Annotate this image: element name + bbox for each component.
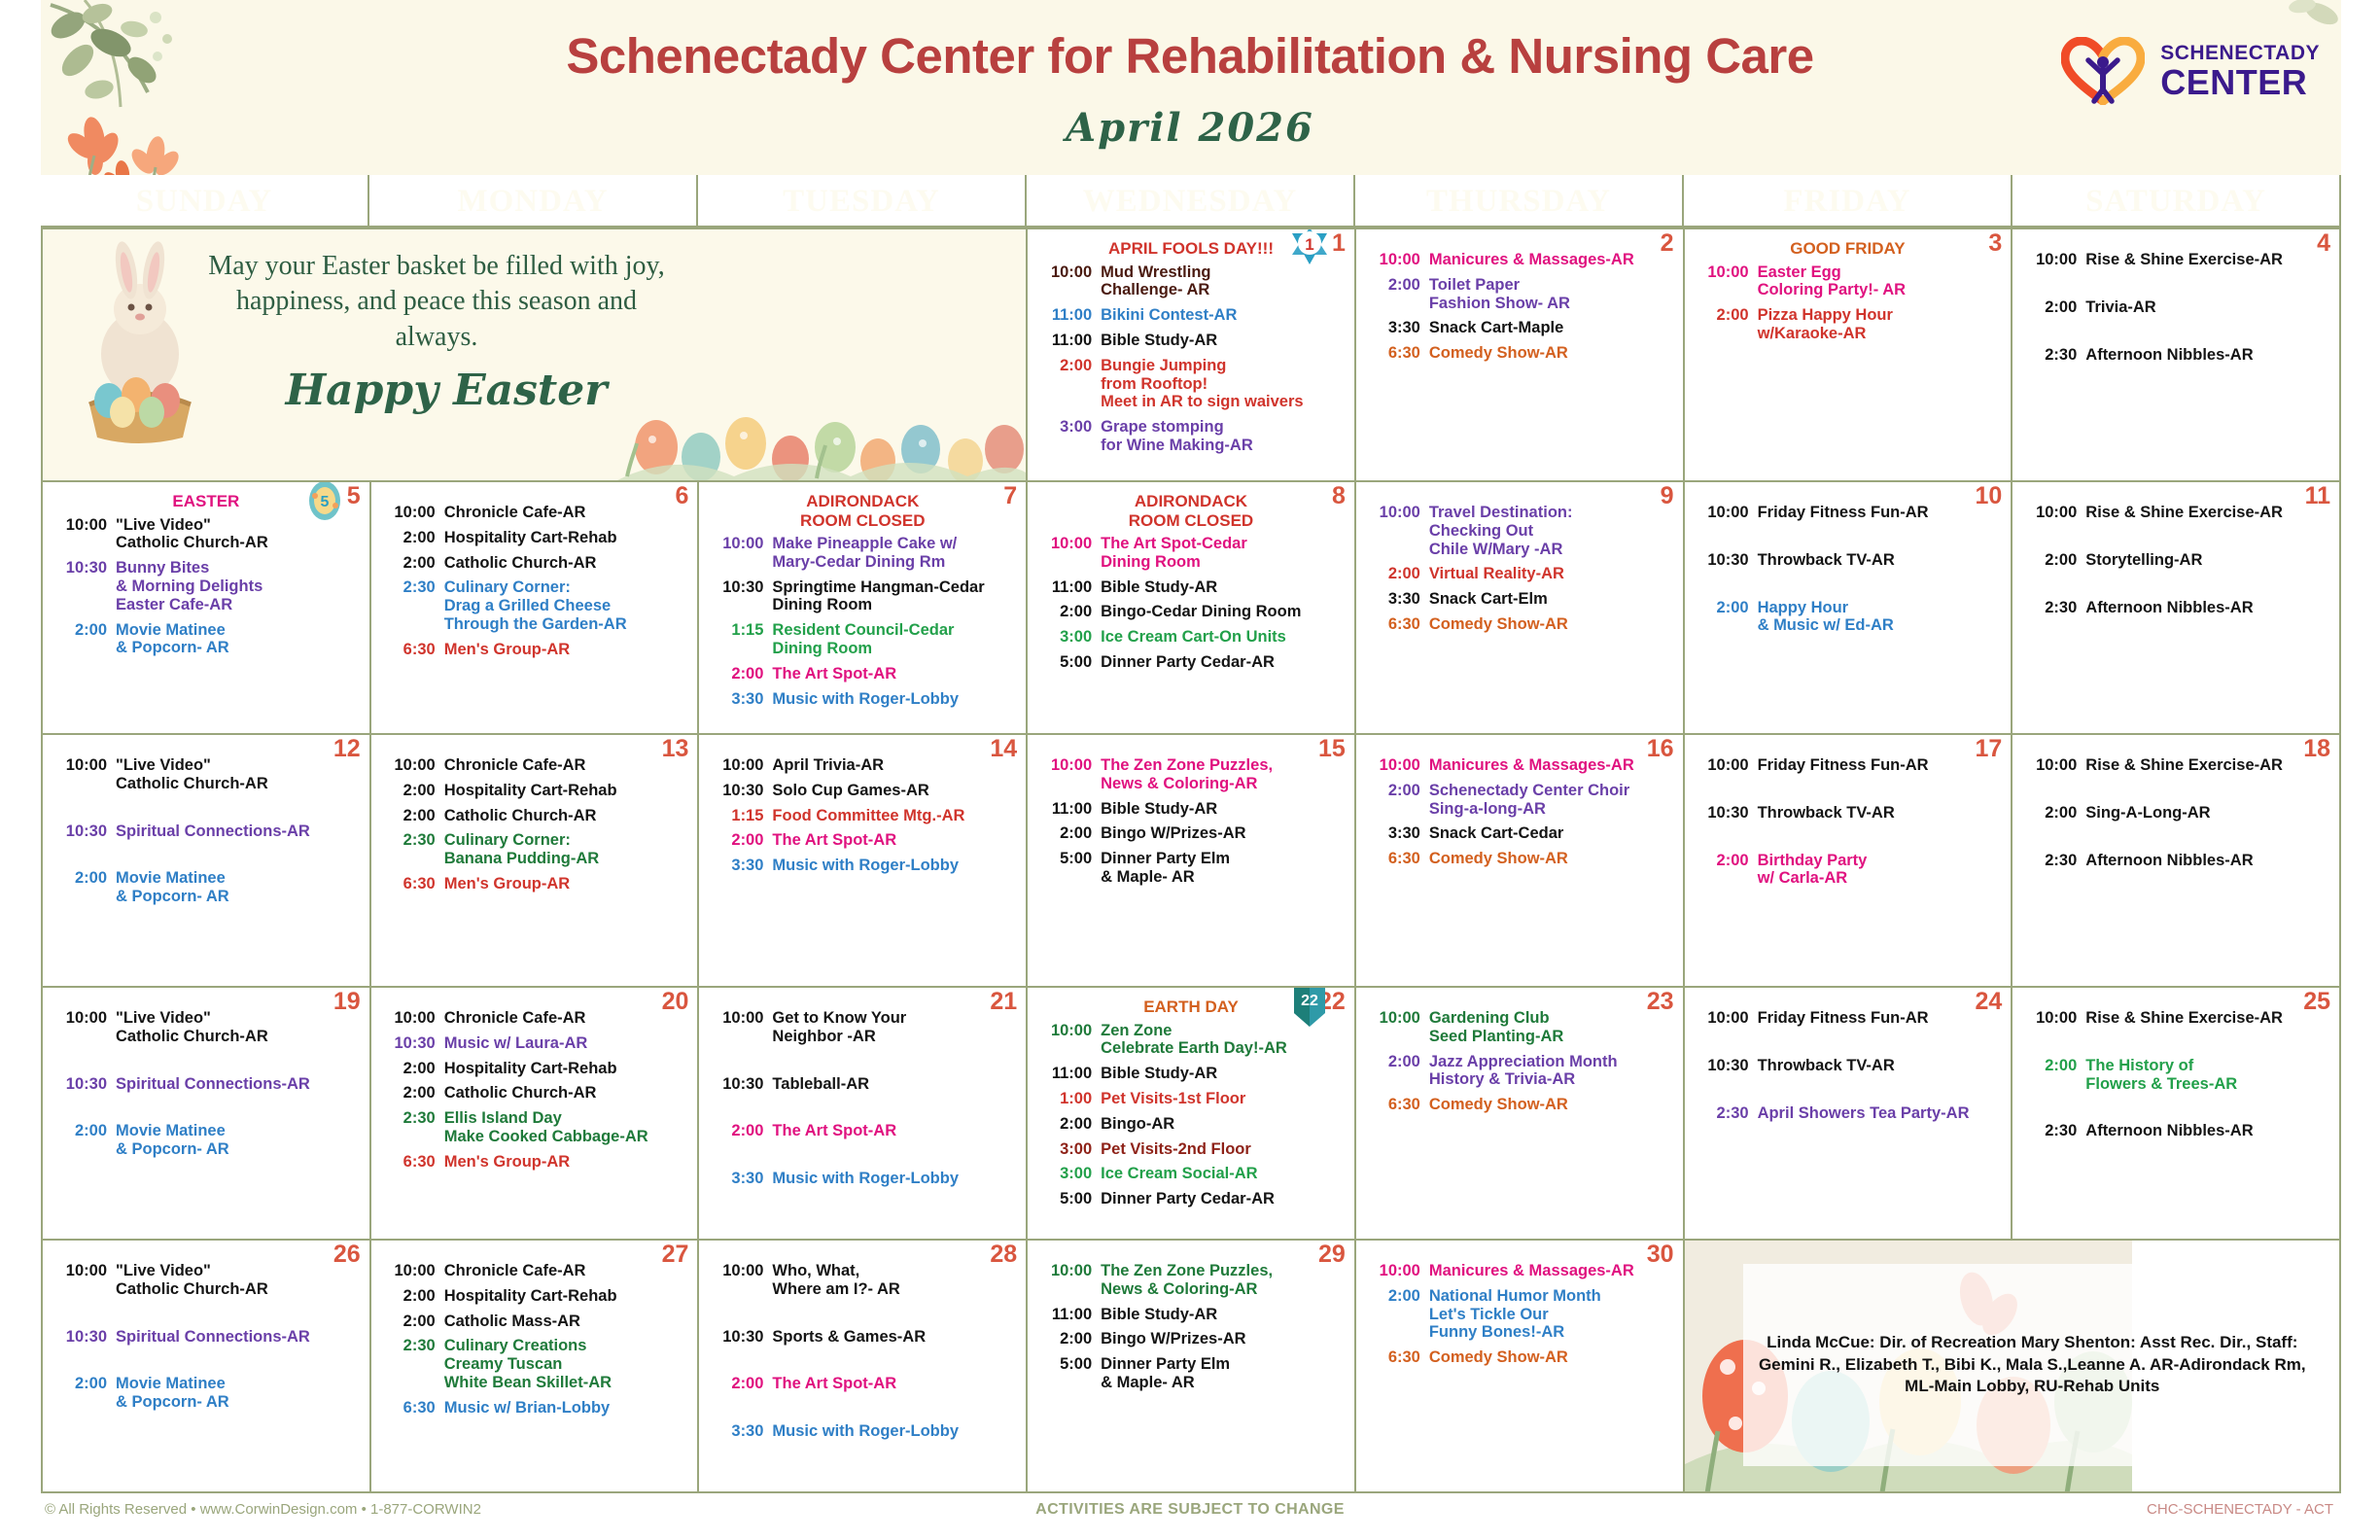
event-item[interactable]: 2:00Bingo W/Prizes-AR <box>1035 1330 1347 1348</box>
event-time: 2:00 <box>1364 1287 1429 1306</box>
logo-line-1: SCHENECTADY <box>2160 43 2320 63</box>
day-cell-30[interactable]: 3010:00Manicures & Massages-AR2:00Nation… <box>1356 1241 1685 1493</box>
day-number: 9 <box>1661 484 1674 508</box>
day-cell-3[interactable]: 3GOOD FRIDAY10:00Easter Egg Coloring Par… <box>1685 229 2013 482</box>
easter-eggs-icon <box>617 334 1026 480</box>
event-time: 2:00 <box>707 665 772 683</box>
event-item[interactable]: 11:00Bible Study-AR <box>1035 800 1347 819</box>
event-item[interactable]: 10:00Chronicle Cafe-AR <box>379 1009 690 1028</box>
event-time: 2:00 <box>2020 298 2085 317</box>
event-item[interactable]: 2:00The Art Spot-AR <box>707 1375 1018 1393</box>
event-description: Catholic Church-AR <box>444 1084 690 1102</box>
event-time: 10:00 <box>1364 504 1429 522</box>
event-item[interactable]: 3:30Snack Cart-Cedar <box>1364 824 1675 843</box>
event-item[interactable]: 11:00Bible Study-AR <box>1035 332 1347 350</box>
event-time: 6:30 <box>1364 344 1429 363</box>
event-item[interactable]: 2:00Movie Matinee & Popcorn- AR <box>51 1122 362 1159</box>
day-cell-26[interactable]: 2610:00"Live Video" Catholic Church-AR10… <box>43 1241 371 1493</box>
event-time: 2:00 <box>379 807 444 825</box>
day-cell-10[interactable]: 1010:00Friday Fitness Fun-AR10:30Throwba… <box>1685 482 2013 735</box>
event-item[interactable]: 6:30Comedy Show-AR <box>1364 1348 1675 1367</box>
event-description: Comedy Show-AR <box>1429 1096 1675 1114</box>
event-item[interactable]: 2:00Sing-A-Long-AR <box>2020 804 2331 822</box>
day-cell-19[interactable]: 1910:00"Live Video" Catholic Church-AR10… <box>43 988 371 1241</box>
event-description: Afternoon Nibbles-AR <box>2085 852 2331 870</box>
event-item[interactable]: 10:00"Live Video" Catholic Church-AR <box>51 756 362 793</box>
event-time: 6:30 <box>1364 1348 1429 1367</box>
event-time: 10:30 <box>1693 551 1758 570</box>
event-description: Gardening Club Seed Planting-AR <box>1429 1009 1675 1046</box>
event-description: Easter Egg Coloring Party!- AR <box>1758 263 2004 300</box>
event-description: April Trivia-AR <box>772 756 1018 775</box>
day-cell-16[interactable]: 1610:00Manicures & Massages-AR2:00Schene… <box>1356 735 1685 988</box>
event-time: 10:00 <box>2020 251 2085 269</box>
day-number: 17 <box>1975 737 2002 761</box>
event-item[interactable]: 2:00The Art Spot-AR <box>707 831 1018 850</box>
event-description: Bible Study-AR <box>1101 332 1347 350</box>
event-item[interactable]: 3:30Snack Cart-Maple <box>1364 319 1675 337</box>
event-description: Movie Matinee & Popcorn- AR <box>116 1375 362 1412</box>
day-cell-2[interactable]: 210:00Manicures & Massages-AR2:00Toilet … <box>1356 229 1685 482</box>
event-time: 1:15 <box>707 807 772 825</box>
event-description: Men's Group-AR <box>444 641 690 659</box>
event-item[interactable]: 10:30Throwback TV-AR <box>1693 551 2004 570</box>
day-cell-7[interactable]: 7ADIRONDACKROOM CLOSED10:00Make Pineappl… <box>699 482 1028 735</box>
event-description: Happy Hour & Music w/ Ed-AR <box>1758 599 2004 636</box>
event-item[interactable]: 10:00Friday Fitness Fun-AR <box>1693 756 2004 775</box>
event-description: Get to Know Your Neighbor -AR <box>772 1009 1018 1046</box>
event-time: 2:00 <box>1035 603 1101 621</box>
event-item[interactable]: 10:00"Live Video" Catholic Church-AR <box>51 1009 362 1046</box>
event-item[interactable]: 2:00Trivia-AR <box>2020 298 2331 317</box>
day-number: 10 <box>1975 484 2002 508</box>
day-cell-22[interactable]: 2222EARTH DAY10:00Zen Zone Celebrate Ear… <box>1028 988 1356 1241</box>
easter-bunny-icon <box>51 237 226 451</box>
day-cell-23[interactable]: 2310:00Gardening Club Seed Planting-AR2:… <box>1356 988 1685 1241</box>
event-list: 10:00Mud Wrestling Challenge- AR11:00Bik… <box>1035 263 1347 455</box>
event-item[interactable]: 2:00Happy Hour & Music w/ Ed-AR <box>1693 599 2004 636</box>
event-description: Movie Matinee & Popcorn- AR <box>116 621 362 658</box>
event-description: Snack Cart-Cedar <box>1429 824 1675 843</box>
event-description: Friday Fitness Fun-AR <box>1758 756 2004 775</box>
day-cell-24[interactable]: 2410:00Friday Fitness Fun-AR10:30Throwba… <box>1685 988 2013 1241</box>
event-description: Hospitality Cart-Rehab <box>444 1287 690 1306</box>
event-list: 10:00Manicures & Massages-AR2:00Schenect… <box>1364 756 1675 868</box>
event-item[interactable]: 11:00Bible Study-AR <box>1035 1306 1347 1324</box>
event-item[interactable]: 6:30Comedy Show-AR <box>1364 615 1675 634</box>
event-item[interactable]: 6:30Comedy Show-AR <box>1364 850 1675 868</box>
footer-code: CHC-SCHENECTADY - ACT <box>2147 1501 2333 1518</box>
day-number: 24 <box>1975 990 2002 1014</box>
event-description: April Showers Tea Party-AR <box>1758 1104 2004 1123</box>
event-item[interactable]: 2:00The Art Spot-AR <box>707 1122 1018 1140</box>
event-item[interactable]: 3:00Ice Cream Social-AR <box>1035 1165 1347 1183</box>
event-item[interactable]: 6:30Men's Group-AR <box>379 1153 690 1172</box>
logo-line-2: CENTER <box>2160 65 2320 100</box>
event-item[interactable]: 2:00Birthday Party w/ Carla-AR <box>1693 852 2004 889</box>
event-item[interactable]: 10:00"Live Video" Catholic Church-AR <box>51 1262 362 1299</box>
event-list: 10:00"Live Video" Catholic Church-AR10:3… <box>51 1262 362 1412</box>
event-item[interactable]: 2:00Jazz Appreciation Month History & Tr… <box>1364 1053 1675 1090</box>
day-cell-27[interactable]: 2710:00Chronicle Cafe-AR2:00Hospitality … <box>371 1241 700 1493</box>
event-description: "Live Video" Catholic Church-AR <box>116 1262 362 1299</box>
event-description: Throwback TV-AR <box>1758 804 2004 822</box>
event-description: Solo Cup Games-AR <box>772 782 1018 800</box>
event-description: Chronicle Cafe-AR <box>444 504 690 522</box>
event-item[interactable]: 10:00Rise & Shine Exercise-AR <box>2020 251 2331 269</box>
day-cell-6[interactable]: 610:00Chronicle Cafe-AR2:00Hospitality C… <box>371 482 700 735</box>
event-item[interactable]: 10:00Chronicle Cafe-AR <box>379 756 690 775</box>
event-list: 10:00Chronicle Cafe-AR2:00Hospitality Ca… <box>379 1262 690 1417</box>
event-description: Hospitality Cart-Rehab <box>444 529 690 547</box>
event-list: 10:00Zen Zone Celebrate Earth Day!-AR11:… <box>1035 1022 1347 1208</box>
event-list: 10:00Manicures & Massages-AR2:00National… <box>1364 1262 1675 1367</box>
event-time: 10:30 <box>707 782 772 800</box>
event-item[interactable]: 10:00Gardening Club Seed Planting-AR <box>1364 1009 1675 1046</box>
day-number: 12 <box>333 737 361 761</box>
event-description: Friday Fitness Fun-AR <box>1758 504 2004 522</box>
event-item[interactable]: 10:30Bunny Bites & Morning Delights East… <box>51 559 362 613</box>
event-time: 10:00 <box>379 1009 444 1028</box>
event-time: 2:00 <box>379 1084 444 1102</box>
day-number: 25 <box>2303 990 2330 1014</box>
page-footer: © All Rights Reserved • www.CorwinDesign… <box>0 1493 2380 1540</box>
day-number: 1 <box>1332 231 1346 256</box>
day-cell-5[interactable]: 55EASTER10:00"Live Video" Catholic Churc… <box>43 482 371 735</box>
event-time: 2:00 <box>1364 565 1429 583</box>
event-item[interactable]: 3:30Music with Roger-Lobby <box>707 1422 1018 1441</box>
event-item[interactable]: 2:00Bingo-Cedar Dining Room <box>1035 603 1347 621</box>
event-list: 10:00Rise & Shine Exercise-AR2:00Trivia-… <box>2020 251 2331 364</box>
event-item[interactable]: 10:30Throwback TV-AR <box>1693 804 2004 822</box>
event-item[interactable]: 2:00Hospitality Cart-Rehab <box>379 529 690 547</box>
event-description: Sports & Games-AR <box>772 1328 1018 1347</box>
event-description: The Art Spot-AR <box>772 1122 1018 1140</box>
event-item[interactable]: 10:00Who, What, Where am I?- AR <box>707 1262 1018 1299</box>
event-description: Throwback TV-AR <box>1758 551 2004 570</box>
event-item[interactable]: 2:30Afternoon Nibbles-AR <box>2020 346 2331 365</box>
event-list: 10:00Rise & Shine Exercise-AR2:00Storyte… <box>2020 504 2331 616</box>
event-time: 5:00 <box>1035 1355 1101 1374</box>
day-cell-28[interactable]: 2810:00Who, What, Where am I?- AR10:30Sp… <box>699 1241 1028 1493</box>
event-item[interactable]: 2:00Virtual Reality-AR <box>1364 565 1675 583</box>
event-time: 10:00 <box>51 516 116 535</box>
event-time: 3:30 <box>1364 319 1429 337</box>
day-number: 28 <box>990 1242 1017 1267</box>
event-item[interactable]: 3:30Music with Roger-Lobby <box>707 1170 1018 1188</box>
weekday-header-tuesday: TUESDAY <box>698 175 1027 227</box>
event-description: Bingo W/Prizes-AR <box>1101 1330 1347 1348</box>
event-description: Dinner Party Cedar-AR <box>1101 653 1347 672</box>
event-item[interactable]: 10:30Throwback TV-AR <box>1693 1057 2004 1075</box>
event-item[interactable]: 5:00Dinner Party Elm & Maple- AR <box>1035 1355 1347 1392</box>
event-time: 10:00 <box>707 535 772 553</box>
event-item[interactable]: 2:30Afternoon Nibbles-AR <box>2020 1122 2331 1140</box>
event-item[interactable]: 10:00Make Pineapple Cake w/ Mary-Cedar D… <box>707 535 1018 572</box>
event-time: 10:00 <box>1364 1009 1429 1028</box>
event-item[interactable]: 10:00Manicures & Massages-AR <box>1364 756 1675 775</box>
event-item[interactable]: 1:15Food Committee Mtg.-AR <box>707 807 1018 825</box>
day-cell-21[interactable]: 2110:00Get to Know Your Neighbor -AR10:3… <box>699 988 1028 1241</box>
event-time: 2:00 <box>379 1060 444 1078</box>
day-cell-20[interactable]: 2010:00Chronicle Cafe-AR10:30Music w/ La… <box>371 988 700 1241</box>
event-item[interactable]: 10:00The Art Spot-Cedar Dining Room <box>1035 535 1347 572</box>
event-description: Pet Visits-2nd Floor <box>1101 1140 1347 1159</box>
event-time: 2:00 <box>379 1312 444 1331</box>
event-item[interactable]: 1:00Pet Visits-1st Floor <box>1035 1090 1347 1108</box>
event-item[interactable]: 2:00Toilet Paper Fashion Show- AR <box>1364 276 1675 313</box>
event-item[interactable]: 5:00Dinner Party Elm & Maple- AR <box>1035 850 1347 887</box>
event-item[interactable]: 2:30April Showers Tea Party-AR <box>1693 1104 2004 1123</box>
event-item[interactable]: 2:00Movie Matinee & Popcorn- AR <box>51 869 362 906</box>
weekday-header-thursday: THURSDAY <box>1355 175 1684 227</box>
event-time: 6:30 <box>1364 1096 1429 1114</box>
event-item[interactable]: 10:00April Trivia-AR <box>707 756 1018 775</box>
event-list: 10:00Friday Fitness Fun-AR10:30Throwback… <box>1693 504 2004 635</box>
event-description: Manicures & Massages-AR <box>1429 251 1675 269</box>
day-number: 5 <box>347 484 361 508</box>
event-description: Ice Cream Cart-On Units <box>1101 628 1347 647</box>
event-description: Sing-A-Long-AR <box>2085 804 2331 822</box>
day-cell-1[interactable]: 11APRIL FOOLS DAY!!!10:00Mud Wrestling C… <box>1028 229 1356 482</box>
easter-greeting-script: Happy Easter <box>237 366 655 415</box>
event-item[interactable]: 10:30Springtime Hangman-Cedar Dining Roo… <box>707 578 1018 615</box>
logo-wordmark: SCHENECTADY CENTER <box>2160 43 2320 100</box>
earth-ribbon-badge-icon: 22 <box>1288 988 1331 1029</box>
day-cell-11[interactable]: 1110:00Rise & Shine Exercise-AR2:00Story… <box>2012 482 2341 735</box>
event-item[interactable]: 10:30Tableball-AR <box>707 1075 1018 1094</box>
event-item[interactable]: 3:00Pet Visits-2nd Floor <box>1035 1140 1347 1159</box>
event-time: 6:30 <box>1364 850 1429 868</box>
event-item[interactable]: 2:30Afternoon Nibbles-AR <box>2020 852 2331 870</box>
event-time: 10:00 <box>1364 756 1429 775</box>
event-item[interactable]: 10:00Travel Destination: Checking Out Ch… <box>1364 504 1675 558</box>
event-item[interactable]: 2:00Movie Matinee & Popcorn- AR <box>51 1375 362 1412</box>
event-description: Afternoon Nibbles-AR <box>2085 599 2331 617</box>
staff-info-text: Linda McCue: Dir. of Recreation Mary She… <box>1743 1332 2322 1397</box>
event-item[interactable]: 5:00Dinner Party Cedar-AR <box>1035 1190 1347 1208</box>
event-item[interactable]: 2:00Storytelling-AR <box>2020 551 2331 570</box>
event-item[interactable]: 10:00Friday Fitness Fun-AR <box>1693 1009 2004 1028</box>
day-cell-14[interactable]: 1410:00April Trivia-AR10:30Solo Cup Game… <box>699 735 1028 988</box>
weekday-header-friday: FRIDAY <box>1684 175 2012 227</box>
day-number: 27 <box>662 1242 689 1267</box>
event-time: 10:30 <box>707 1075 772 1094</box>
event-item[interactable]: 2:30Culinary Corner: Banana Pudding-AR <box>379 831 690 868</box>
svg-text:1: 1 <box>1305 235 1313 254</box>
event-time: 10:00 <box>379 1262 444 1280</box>
day-cell-29[interactable]: 2910:00The Zen Zone Puzzles, News & Colo… <box>1028 1241 1356 1493</box>
event-time: 10:30 <box>51 822 116 841</box>
day-cell-13[interactable]: 1310:00Chronicle Cafe-AR2:00Hospitality … <box>371 735 700 988</box>
event-item[interactable]: 2:00Pizza Happy Hour w/Karaoke-AR <box>1693 306 2004 343</box>
event-item[interactable]: 6:30Comedy Show-AR <box>1364 1096 1675 1114</box>
event-time: 10:00 <box>707 1262 772 1280</box>
event-item[interactable]: 6:30Comedy Show-AR <box>1364 344 1675 363</box>
event-item[interactable]: 3:30Music with Roger-Lobby <box>707 690 1018 709</box>
day-cell-12[interactable]: 1210:00"Live Video" Catholic Church-AR10… <box>43 735 371 988</box>
day-cell-15[interactable]: 1510:00The Zen Zone Puzzles, News & Colo… <box>1028 735 1356 988</box>
event-description: Snack Cart-Maple <box>1429 319 1675 337</box>
event-item[interactable]: 2:00Catholic Mass-AR <box>379 1312 690 1331</box>
event-item[interactable]: 2:00Movie Matinee & Popcorn- AR <box>51 621 362 658</box>
event-time: 3:00 <box>1035 628 1101 647</box>
event-description: Dinner Party Cedar-AR <box>1101 1190 1347 1208</box>
event-time: 10:00 <box>1693 1009 1758 1028</box>
event-item[interactable]: 5:00Dinner Party Cedar-AR <box>1035 653 1347 672</box>
event-item[interactable]: 2:00Catholic Church-AR <box>379 1084 690 1102</box>
event-description: Bible Study-AR <box>1101 578 1347 597</box>
event-item[interactable]: 10:30Spiritual Connections-AR <box>51 822 362 841</box>
event-item[interactable]: 6:30Men's Group-AR <box>379 641 690 659</box>
event-item[interactable]: 2:00National Humor Month Let's Tickle Ou… <box>1364 1287 1675 1342</box>
event-time: 2:00 <box>1035 1115 1101 1134</box>
event-time: 10:00 <box>1035 1262 1101 1280</box>
event-item[interactable]: 2:00Hospitality Cart-Rehab <box>379 1287 690 1306</box>
event-time: 10:00 <box>1693 756 1758 775</box>
event-item[interactable]: 3:00Ice Cream Cart-On Units <box>1035 628 1347 647</box>
event-description: Spiritual Connections-AR <box>116 1075 362 1094</box>
event-description: Culinary Creations Creamy Tuscan White B… <box>444 1337 690 1391</box>
event-time: 6:30 <box>379 641 444 659</box>
event-time: 2:00 <box>1364 782 1429 800</box>
event-description: Ice Cream Social-AR <box>1101 1165 1347 1183</box>
event-item[interactable]: 2:00Hospitality Cart-Rehab <box>379 782 690 800</box>
day-banner: ADIRONDACKROOM CLOSED <box>1035 492 1347 530</box>
event-item[interactable]: 2:00The Art Spot-AR <box>707 665 1018 683</box>
event-time: 6:30 <box>1364 615 1429 634</box>
event-item[interactable]: 2:30Culinary Creations Creamy Tuscan Whi… <box>379 1337 690 1391</box>
event-description: The Art Spot-AR <box>772 665 1018 683</box>
day-number: 16 <box>1647 737 1674 761</box>
event-item[interactable]: 10:00Chronicle Cafe-AR <box>379 1262 690 1280</box>
event-item[interactable]: 2:00Bungie Jumping from Rooftop! Meet in… <box>1035 357 1347 411</box>
event-item[interactable]: 10:30Sports & Games-AR <box>707 1328 1018 1347</box>
event-time: 2:30 <box>379 578 444 597</box>
event-time: 2:30 <box>1693 1104 1758 1123</box>
day-number: 26 <box>333 1242 361 1267</box>
event-description: Music w/ Brian-Lobby <box>444 1399 690 1417</box>
event-item[interactable]: 10:00Chronicle Cafe-AR <box>379 504 690 522</box>
event-item[interactable]: 3:30Snack Cart-Elm <box>1364 590 1675 609</box>
event-item[interactable]: 2:00Hospitality Cart-Rehab <box>379 1060 690 1078</box>
weekday-header-saturday: SATURDAY <box>2012 175 2341 227</box>
event-time: 2:00 <box>379 554 444 573</box>
event-time: 3:30 <box>707 857 772 875</box>
event-description: Tableball-AR <box>772 1075 1018 1094</box>
event-item[interactable]: 11:00Bible Study-AR <box>1035 578 1347 597</box>
event-time: 11:00 <box>1035 578 1101 597</box>
event-item[interactable]: 10:30Music w/ Laura-AR <box>379 1034 690 1053</box>
event-list: 10:00Make Pineapple Cake w/ Mary-Cedar D… <box>707 535 1018 708</box>
event-time: 2:30 <box>379 831 444 850</box>
event-item[interactable]: 2:00The History of Flowers & Trees-AR <box>2020 1057 2331 1094</box>
event-time: 2:00 <box>1693 852 1758 870</box>
event-description: Catholic Church-AR <box>444 554 690 573</box>
event-item[interactable]: 2:00Catholic Church-AR <box>379 807 690 825</box>
event-description: Bingo-Cedar Dining Room <box>1101 603 1347 621</box>
event-time: 6:30 <box>379 1153 444 1172</box>
svg-text:22: 22 <box>1301 993 1318 1009</box>
day-cell-8[interactable]: 8ADIRONDACKROOM CLOSED10:00The Art Spot-… <box>1028 482 1356 735</box>
event-item[interactable]: 10:00Get to Know Your Neighbor -AR <box>707 1009 1018 1046</box>
event-item[interactable]: 10:00The Zen Zone Puzzles, News & Colori… <box>1035 1262 1347 1299</box>
day-cell-25[interactable]: 2510:00Rise & Shine Exercise-AR2:00The H… <box>2012 988 2341 1241</box>
event-time: 2:30 <box>2020 346 2085 365</box>
event-description: Men's Group-AR <box>444 1153 690 1172</box>
event-time: 5:00 <box>1035 850 1101 868</box>
event-time: 3:30 <box>707 690 772 709</box>
event-description: Make Pineapple Cake w/ Mary-Cedar Dining… <box>772 535 1018 572</box>
event-time: 2:30 <box>379 1337 444 1355</box>
day-cell-9[interactable]: 910:00Travel Destination: Checking Out C… <box>1356 482 1685 735</box>
event-item[interactable]: 10:00Manicures & Massages-AR <box>1364 251 1675 269</box>
event-description: Comedy Show-AR <box>1429 850 1675 868</box>
day-cell-4[interactable]: 410:00Rise & Shine Exercise-AR2:00Trivia… <box>2012 229 2341 482</box>
event-time: 2:00 <box>51 621 116 640</box>
event-item[interactable]: 2:00Schenectady Center Choir Sing-a-long… <box>1364 782 1675 819</box>
event-item[interactable]: 6:30Music w/ Brian-Lobby <box>379 1399 690 1417</box>
event-item[interactable]: 2:00Bingo-AR <box>1035 1115 1347 1134</box>
event-item[interactable]: 10:00Rise & Shine Exercise-AR <box>2020 756 2331 775</box>
event-item[interactable]: 10:30Spiritual Connections-AR <box>51 1075 362 1094</box>
star-badge-icon: 1 <box>1288 229 1331 270</box>
day-cell-18[interactable]: 1810:00Rise & Shine Exercise-AR2:00Sing-… <box>2012 735 2341 988</box>
event-item[interactable]: 3:00Grape stomping for Wine Making-AR <box>1035 418 1347 455</box>
event-description: Spiritual Connections-AR <box>116 1328 362 1347</box>
event-item[interactable]: 10:00Friday Fitness Fun-AR <box>1693 504 2004 522</box>
event-item[interactable]: 11:00Bikini Contest-AR <box>1035 306 1347 325</box>
month-label: April 2026 <box>0 105 2380 151</box>
event-list: 10:00Who, What, Where am I?- AR10:30Spor… <box>707 1262 1018 1441</box>
day-number: 19 <box>333 990 361 1014</box>
event-item[interactable]: 10:30Solo Cup Games-AR <box>707 782 1018 800</box>
event-item[interactable]: 2:30Culinary Corner: Drag a Grilled Chee… <box>379 578 690 633</box>
event-time: 2:00 <box>379 529 444 547</box>
event-item[interactable]: 11:00Bible Study-AR <box>1035 1065 1347 1083</box>
event-item[interactable]: 10:00The Zen Zone Puzzles, News & Colori… <box>1035 756 1347 793</box>
event-item[interactable]: 10:30Spiritual Connections-AR <box>51 1328 362 1347</box>
event-description: Bunny Bites & Morning Delights Easter Ca… <box>116 559 362 613</box>
event-item[interactable]: 2:30Ellis Island Day Make Cooked Cabbage… <box>379 1109 690 1146</box>
event-item[interactable]: 2:00Bingo W/Prizes-AR <box>1035 824 1347 843</box>
event-item[interactable]: 10:00Easter Egg Coloring Party!- AR <box>1693 263 2004 300</box>
event-description: Bible Study-AR <box>1101 800 1347 819</box>
event-list: 10:00The Zen Zone Puzzles, News & Colori… <box>1035 756 1347 887</box>
day-cell-17[interactable]: 1710:00Friday Fitness Fun-AR10:30Throwba… <box>1685 735 2013 988</box>
event-description: Rise & Shine Exercise-AR <box>2085 504 2331 522</box>
event-list: 10:00Chronicle Cafe-AR2:00Hospitality Ca… <box>379 756 690 893</box>
event-item[interactable]: 1:15Resident Council-Cedar Dining Room <box>707 621 1018 658</box>
event-item[interactable]: 6:30Men's Group-AR <box>379 875 690 893</box>
event-description: Ellis Island Day Make Cooked Cabbage-AR <box>444 1109 690 1146</box>
event-item[interactable]: 10:00Rise & Shine Exercise-AR <box>2020 1009 2331 1028</box>
event-item[interactable]: 10:00Manicures & Massages-AR <box>1364 1262 1675 1280</box>
event-description: Hospitality Cart-Rehab <box>444 1060 690 1078</box>
event-time: 2:00 <box>707 1375 772 1393</box>
event-time: 3:30 <box>1364 824 1429 843</box>
event-time: 10:30 <box>707 1328 772 1347</box>
event-description: Bible Study-AR <box>1101 1306 1347 1324</box>
event-item[interactable]: 2:30Afternoon Nibbles-AR <box>2020 599 2331 617</box>
event-time: 10:00 <box>1364 251 1429 269</box>
event-item[interactable]: 10:00Rise & Shine Exercise-AR <box>2020 504 2331 522</box>
event-item[interactable]: 3:30Music with Roger-Lobby <box>707 857 1018 875</box>
event-description: Afternoon Nibbles-AR <box>2085 1122 2331 1140</box>
event-description: Manicures & Massages-AR <box>1429 1262 1675 1280</box>
event-item[interactable]: 2:00Catholic Church-AR <box>379 554 690 573</box>
event-time: 10:00 <box>379 504 444 522</box>
